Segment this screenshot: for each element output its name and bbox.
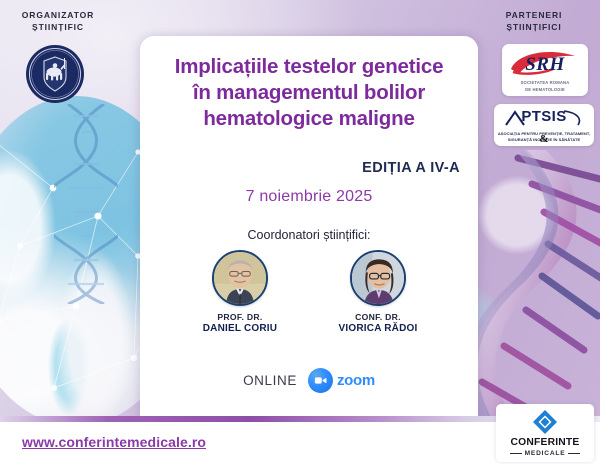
event-title: Implicațiile testelor genetice în manage…	[150, 54, 468, 133]
coordinator-name: VIORICA RĂDOI	[325, 323, 431, 334]
partners-label-line1: PARTENERI	[474, 9, 594, 21]
organizer-label: ORGANIZATOR ȘTIINȚIFIC	[8, 9, 108, 34]
coordinator-rank: PROF. DR.	[187, 312, 293, 322]
dna-helix-left-icon	[54, 104, 118, 304]
coordinator-item: CONF. DR. VIORICA RĂDOI	[325, 250, 431, 334]
zoom-camera-icon	[308, 368, 333, 393]
event-date: 7 noiembrie 2025	[140, 188, 478, 206]
edition-label: EDIȚIA A IV-A	[362, 160, 460, 176]
coordinator-name: DANIEL CORIU	[187, 323, 293, 334]
coordinators-label: Coordonatori științifici:	[140, 228, 478, 242]
website-url-link[interactable]: www.conferintemedicale.ro	[22, 434, 206, 450]
ptsis-wordmark: PTSIS	[494, 108, 594, 125]
organizer-label-line1: ORGANIZATOR	[8, 9, 108, 21]
online-label: ONLINE	[243, 373, 297, 388]
srh-wordmark: SRH	[502, 54, 588, 76]
avatar-daniel-coriu	[212, 250, 268, 306]
zoom-wordmark: zoom	[337, 372, 375, 389]
brand-name: CONFERINTE	[511, 437, 580, 448]
srh-subtitle: SOCIETATEA ROMANA DE HEMATOLOGIE	[504, 80, 586, 93]
partner-logo-ptsis: PTSIS ASOCIAȚIA PENTRU PREVENȚIE, TRATAM…	[494, 104, 594, 146]
brand-diamond-icon	[532, 409, 558, 435]
event-title-line3: hematologice maligne	[150, 106, 468, 132]
brand-subtitle: MEDICALE	[525, 450, 566, 457]
avatar-viorica-radoi	[350, 250, 406, 306]
coordinator-rank: CONF. DR.	[325, 312, 431, 322]
event-title-line1: Implicațiile testelor genetice	[150, 54, 468, 80]
event-title-line2: în managementul bolilor	[150, 80, 468, 106]
partners-label: PARTENERI ȘTIINȚIFICI	[474, 9, 594, 34]
coordinators-row: PROF. DR. DANIEL CORIU	[140, 250, 478, 334]
srh-subtitle-line2: DE HEMATOLOGIE	[504, 87, 586, 93]
brand-dash-left	[510, 453, 522, 454]
online-platform-row: ONLINE zoom	[140, 368, 478, 393]
brand-subtitle-row: MEDICALE	[510, 450, 581, 457]
partners-label-line2: ȘTIINȚIFICI	[474, 21, 594, 33]
main-content-card: Implicațiile testelor genetice în manage…	[140, 36, 478, 421]
brand-dash-right	[568, 453, 580, 454]
organizer-label-line2: ȘTIINȚIFIC	[8, 21, 108, 33]
zoom-logo: zoom	[308, 368, 375, 393]
partner-logo-srh: SRH SOCIETATEA ROMANA DE HEMATOLOGIE	[502, 44, 588, 96]
conference-poster: ORGANIZATOR ȘTIINȚIFIC PARTENERI ȘTIINȚI…	[0, 0, 600, 464]
coordinator-item: PROF. DR. DANIEL CORIU	[187, 250, 293, 334]
umf-carol-davila-seal-icon	[25, 44, 85, 104]
brand-logo-conferinte-medicale: CONFERINTE MEDICALE	[496, 404, 594, 462]
ptsis-ampersand: &	[539, 133, 548, 145]
